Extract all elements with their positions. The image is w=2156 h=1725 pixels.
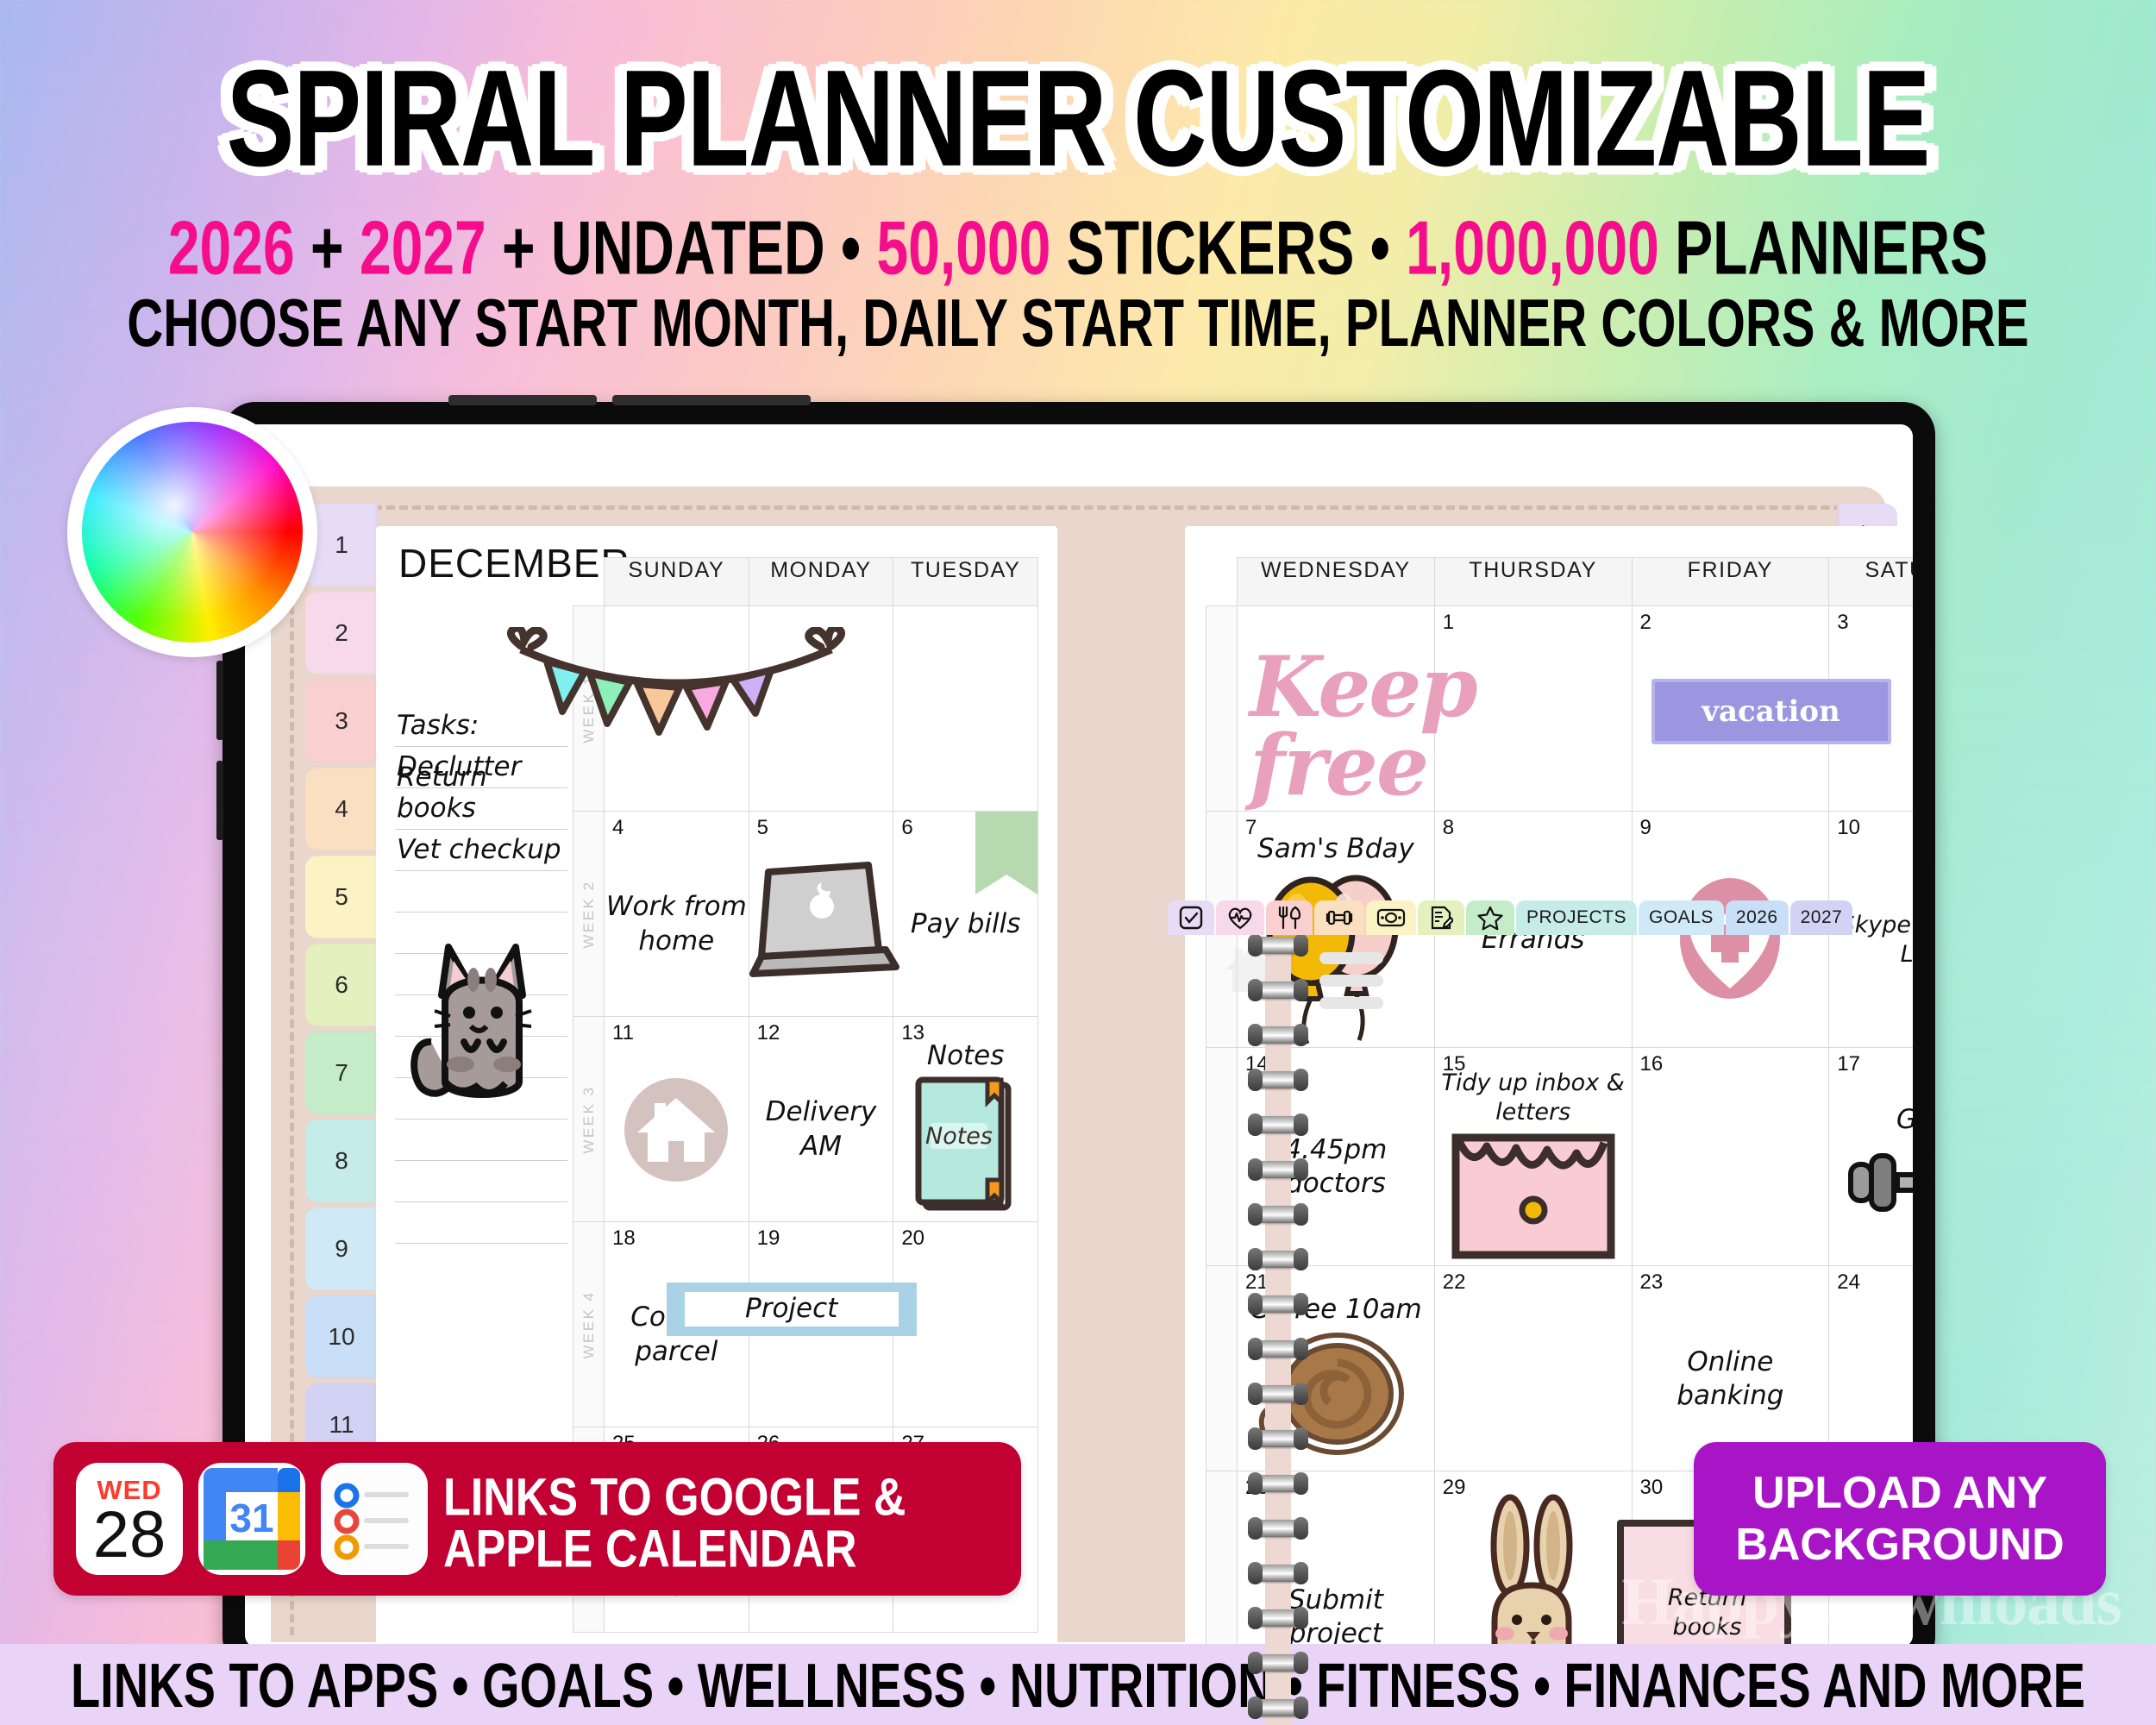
calendar-day-cell[interactable]: 29 <box>1434 1471 1632 1647</box>
vacation-text: vacation <box>1702 694 1840 729</box>
day-number: 18 <box>612 1226 636 1251</box>
day-number: 22 <box>1443 1270 1466 1295</box>
weekday-header: MONDAY <box>749 558 893 606</box>
plus-2: + <box>486 204 551 290</box>
task-line[interactable] <box>395 1120 567 1161</box>
laptop-sticker <box>739 860 903 989</box>
upload-background-badge: UPLOAD ANY BACKGROUND <box>1694 1442 2106 1596</box>
planners-label: PLANNERS <box>1659 204 1988 290</box>
event-text: Delivery AM <box>749 1095 893 1163</box>
note-pen-icon[interactable] <box>1418 900 1464 935</box>
event-text: Notes <box>927 1039 1005 1073</box>
day-number: 23 <box>1640 1270 1664 1295</box>
project-label-text: Project <box>685 1292 899 1327</box>
numbered-tab-4[interactable]: 4 <box>305 768 378 850</box>
numbered-tab-10[interactable]: 10 <box>305 1295 378 1378</box>
toolbar-tab-label: 2026 <box>1736 907 1778 928</box>
task-line[interactable]: Vet checkup <box>395 830 567 871</box>
calendar-badge-line-2: APPLE CALENDAR <box>443 1519 906 1580</box>
cat-sticker <box>407 913 552 1109</box>
event-text: Tidy up inbox & letters <box>1435 1069 1632 1127</box>
day-number: 9 <box>1640 816 1651 840</box>
cell-content: NotesNotes <box>893 1017 1037 1221</box>
cell-content <box>1435 606 1632 811</box>
calendar-week-row: WEEK 31112Delivery AM13NotesNotes <box>573 1017 1038 1222</box>
calendar-day-cell[interactable]: 19Project <box>749 1222 893 1427</box>
day-number: 29 <box>1443 1476 1466 1500</box>
planners-count: 1,000,000 <box>1406 204 1659 290</box>
spiral-binding <box>1250 937 1307 1725</box>
calendar-links-badge: WED 28 31 LINKS TO GOOGLE & APPLE CALEN <box>53 1442 1021 1596</box>
calendar-week-row: WEEK 24Work from home56Pay bills <box>573 812 1038 1017</box>
cell-content <box>749 812 893 1016</box>
calendar-day-cell[interactable]: 6Pay bills <box>893 812 1038 1017</box>
cell-content: Online banking <box>1633 1266 1829 1471</box>
star-icon[interactable] <box>1466 900 1514 935</box>
envelope-sticker <box>1447 1127 1620 1265</box>
calendar-week-row: Keep free12vacation3 <box>1206 606 1914 812</box>
cell-content <box>1829 1266 1913 1471</box>
task-line[interactable] <box>395 1202 567 1244</box>
spiral-ring <box>1250 1430 1307 1447</box>
calendar-badge-text: LINKS TO GOOGLE & APPLE CALENDAR <box>443 1467 906 1571</box>
calendar-day-cell[interactable] <box>749 606 893 812</box>
header: SPIRAL PLANNER CUSTOMIZABLE 2026 + 2027 … <box>0 0 2156 371</box>
numbered-tab-label: 4 <box>335 795 348 823</box>
calendar-day-cell[interactable]: 13NotesNotes <box>893 1017 1038 1222</box>
numbered-tab-label: 9 <box>335 1235 348 1263</box>
day-number: 13 <box>901 1021 924 1045</box>
dumbbell-icon[interactable] <box>1314 900 1364 935</box>
calendar-day-cell[interactable]: 3 <box>1829 606 1913 812</box>
upload-badge-line-2: BACKGROUND <box>1735 1519 2064 1571</box>
event-text: Online banking <box>1633 1345 1829 1413</box>
week-label: WEEK 2 <box>580 880 598 948</box>
toolbar-tab-goals[interactable]: GOALS <box>1639 900 1724 935</box>
cell-content: Gym <box>1829 1048 1913 1265</box>
task-line[interactable] <box>395 871 567 913</box>
cell-content: Tidy up inbox & letters <box>1435 1048 1632 1265</box>
task-text: Vet checkup <box>397 834 561 865</box>
heart-cross-sticker <box>1670 871 1790 1009</box>
day-number: 4 <box>612 816 624 840</box>
toolbar-tab-2026[interactable]: 2026 <box>1726 900 1789 935</box>
day-number: 5 <box>757 816 768 840</box>
subtitle-line-2: CHOOSE ANY START MONTH, DAILY START TIME… <box>0 285 2156 342</box>
calendar-day-cell[interactable]: 2vacation <box>1632 606 1829 812</box>
numbered-tab-9[interactable]: 9 <box>305 1207 378 1290</box>
toolbar-tab-2027[interactable]: 2027 <box>1790 900 1853 935</box>
day-number: 10 <box>1837 816 1860 840</box>
numbered-tab-strip[interactable]: 1234567891011 <box>305 504 378 1471</box>
calendar-day-cell[interactable]: 12Delivery AM <box>749 1017 893 1222</box>
calendar-day-cell[interactable]: 4Work from home <box>605 812 749 1017</box>
cutlery-icon[interactable] <box>1266 900 1313 935</box>
cell-content <box>893 1222 1037 1427</box>
calendar-week-row: WEEK 418Collect parcel19Project20 <box>573 1222 1038 1427</box>
day-number: 6 <box>901 816 912 840</box>
stickers-label: STICKERS <box>1050 204 1354 290</box>
reminders-icon <box>321 1463 428 1575</box>
calendar-day-cell[interactable]: 5 <box>749 812 893 1017</box>
hamburger-menu-icon[interactable] <box>1319 952 1383 1019</box>
day-number: 8 <box>1443 816 1454 840</box>
task-line[interactable] <box>395 1161 567 1202</box>
spiral-ring <box>1250 1699 1307 1716</box>
apple-calendar-icon: WED 28 <box>76 1463 183 1575</box>
tablet-side-button-2 <box>216 661 223 740</box>
calendar-day-cell[interactable]: 23Online banking <box>1632 1266 1829 1471</box>
toolbar-tab-label: GOALS <box>1649 907 1714 928</box>
spiral-ring <box>1250 1520 1307 1537</box>
calendar-week-row: 21Coffee 10am2223Online banking24 <box>1206 1266 1914 1471</box>
undated-text: UNDATED <box>551 204 825 290</box>
page-title: SPIRAL PLANNER CUSTOMIZABLE <box>0 40 2156 157</box>
day-number: 3 <box>1837 611 1848 635</box>
numbered-tab-3[interactable]: 3 <box>305 680 378 762</box>
color-wheel-gradient <box>82 422 303 643</box>
numbered-tab-label: 3 <box>335 707 348 735</box>
day-number: 1 <box>1443 611 1454 635</box>
numbered-tab-label: 2 <box>335 619 348 647</box>
footer-text: LINKS TO APPS • GOALS • WELLNESS • NUTRI… <box>71 1648 2085 1722</box>
weekday-header: TUESDAY <box>893 558 1038 606</box>
spiral-ring <box>1250 1340 1307 1358</box>
week-label: WEEK 4 <box>580 1290 598 1358</box>
event-text: Work from home <box>605 890 749 957</box>
numbered-tab-6[interactable]: 6 <box>305 944 378 1026</box>
cell-content <box>749 606 893 811</box>
heart-pulse-icon[interactable] <box>1216 900 1264 935</box>
numbered-tab-label: 1 <box>335 531 348 559</box>
day-number: 12 <box>757 1021 780 1045</box>
calendar-day-cell[interactable] <box>893 606 1038 812</box>
day-number: 24 <box>1837 1270 1860 1295</box>
calendar-day-cell[interactable]: 17Gym <box>1829 1048 1913 1266</box>
cell-content <box>1829 606 1913 811</box>
calendar-day-cell[interactable]: 24 <box>1829 1266 1913 1471</box>
numbered-tab-label: 11 <box>329 1411 354 1439</box>
calendar-day-cell[interactable]: 11 <box>605 1017 749 1222</box>
spiral-ring <box>1250 1071 1307 1088</box>
weekday-header: THURSDAY <box>1434 558 1632 606</box>
event-text: Gym <box>1896 1103 1913 1137</box>
calendar-week-row: WEEK 1 <box>573 606 1038 812</box>
spiral-ring <box>1250 1295 1307 1313</box>
week-label: WEEK 3 <box>580 1085 598 1153</box>
footer-bar: LINKS TO APPS • GOALS • WELLNESS • NUTRI… <box>0 1644 2156 1725</box>
year-2027-text: 2027 <box>360 204 486 290</box>
calendar-day-cell[interactable]: 1 <box>1434 606 1632 812</box>
spiral-ring <box>1250 1161 1307 1178</box>
main-title-text: SPIRAL PLANNER CUSTOMIZABLE <box>227 40 1930 198</box>
svg-text:Notes: Notes <box>925 1123 993 1150</box>
task-text: Return books <box>397 762 567 824</box>
spiral-ring <box>1250 1565 1307 1582</box>
color-wheel-icon[interactable] <box>67 407 317 657</box>
numbered-tab-7[interactable]: 7 <box>305 1032 378 1114</box>
day-number: 11 <box>612 1021 634 1045</box>
year-2026-text: 2026 <box>168 204 295 290</box>
task-line[interactable]: Return books <box>395 788 567 830</box>
weekday-header: SATURDAY <box>1829 558 1913 606</box>
spiral-ring <box>1250 1026 1307 1044</box>
toolbar-tab-projects[interactable]: PROJECTS <box>1516 900 1637 935</box>
event-text: Sam's Bday <box>1257 832 1414 866</box>
plus-1: + <box>295 204 360 290</box>
day-number: 20 <box>901 1226 924 1251</box>
day-number: 19 <box>757 1226 780 1251</box>
cell-content <box>1633 1048 1829 1265</box>
numbered-tab-2[interactable]: 2 <box>305 592 378 674</box>
subtitle-line-1: 2026 + 2027 + UNDATED • 50,000 STICKERS … <box>0 204 2156 269</box>
spiral-ring <box>1250 1475 1307 1492</box>
upload-badge-line-1: UPLOAD ANY <box>1735 1467 2064 1519</box>
task-text: Tasks: <box>397 710 479 741</box>
numbered-tab-8[interactable]: 8 <box>305 1120 378 1202</box>
bullet-2: • <box>1354 204 1406 290</box>
numbered-tab-label: 8 <box>335 1147 348 1175</box>
money-icon[interactable] <box>1366 900 1416 935</box>
spiral-ring <box>1250 1654 1307 1672</box>
spiral-ring <box>1250 1609 1307 1627</box>
blue-label-sticker: Project <box>667 1283 917 1336</box>
cell-content <box>893 606 1037 811</box>
toolbar-tab-label: 2027 <box>1801 907 1843 928</box>
cell-content <box>1435 1266 1632 1471</box>
calendar-day-cell[interactable]: 15Tidy up inbox & letters <box>1434 1048 1632 1266</box>
cell-content <box>605 1017 749 1221</box>
checkbox-icon[interactable] <box>1168 900 1214 935</box>
google-calendar-icon: 31 <box>198 1463 305 1575</box>
dumbbell-sticker <box>1837 1137 1913 1232</box>
spiral-ring <box>1250 1385 1307 1402</box>
spiral-ring <box>1250 1116 1307 1133</box>
spiral-ring <box>1250 937 1307 954</box>
event-text: Pay bills <box>911 907 1021 941</box>
bullet-1: • <box>825 204 877 290</box>
numbered-tab-label: 6 <box>335 971 348 999</box>
planner-toolbar[interactable]: PROJECTSGOALS20262027 <box>1168 900 1852 935</box>
day-number: 15 <box>1443 1052 1466 1076</box>
weekday-header: FRIDAY <box>1632 558 1829 606</box>
calendar-day-cell[interactable]: 16 <box>1632 1048 1829 1266</box>
day-number: 30 <box>1640 1476 1664 1500</box>
numbered-tab-5[interactable]: 5 <box>305 856 378 938</box>
spiral-ring <box>1250 1251 1307 1268</box>
stickers-count: 50,000 <box>876 204 1050 290</box>
weekday-header: WEDNESDAY <box>1238 558 1435 606</box>
apple-calendar-date: 28 <box>76 1502 183 1568</box>
bunny-sticker <box>1460 1492 1607 1647</box>
spiral-ring <box>1250 982 1307 999</box>
calendar-day-cell[interactable]: Keep free <box>1238 606 1435 812</box>
tablet-side-button-3 <box>216 761 223 840</box>
numbered-tab-label: 10 <box>328 1323 354 1351</box>
toolbar-tab-label: PROJECTS <box>1526 907 1626 928</box>
day-number: 2 <box>1640 611 1651 635</box>
notebook-sticker: Notes <box>910 1073 1022 1220</box>
cell-content <box>605 606 749 811</box>
calendar-day-cell[interactable] <box>605 606 749 812</box>
cell-content: Delivery AM <box>749 1017 893 1221</box>
spiral-spine <box>1265 937 1291 1725</box>
spiral-ring <box>1250 1206 1307 1223</box>
cell-content: Work from home <box>605 812 749 1016</box>
weekday-header: SUNDAY <box>605 558 749 606</box>
calendar-day-cell[interactable]: 22 <box>1434 1266 1632 1471</box>
calendar-day-cell[interactable]: 20 <box>893 1222 1038 1427</box>
house-circle-sticker <box>620 1074 732 1186</box>
calendar-week-row: 144.45pm doctors15Tidy up inbox & letter… <box>1206 1048 1914 1266</box>
subtitle-line-2-text: CHOOSE ANY START MONTH, DAILY START TIME… <box>127 285 2028 362</box>
day-number: 17 <box>1837 1052 1860 1076</box>
day-number: 16 <box>1640 1052 1664 1076</box>
numbered-tab-label: 7 <box>335 1059 348 1087</box>
svg-text:31: 31 <box>229 1496 273 1540</box>
day-number: 7 <box>1245 816 1257 840</box>
numbered-tab-label: 5 <box>335 883 348 911</box>
